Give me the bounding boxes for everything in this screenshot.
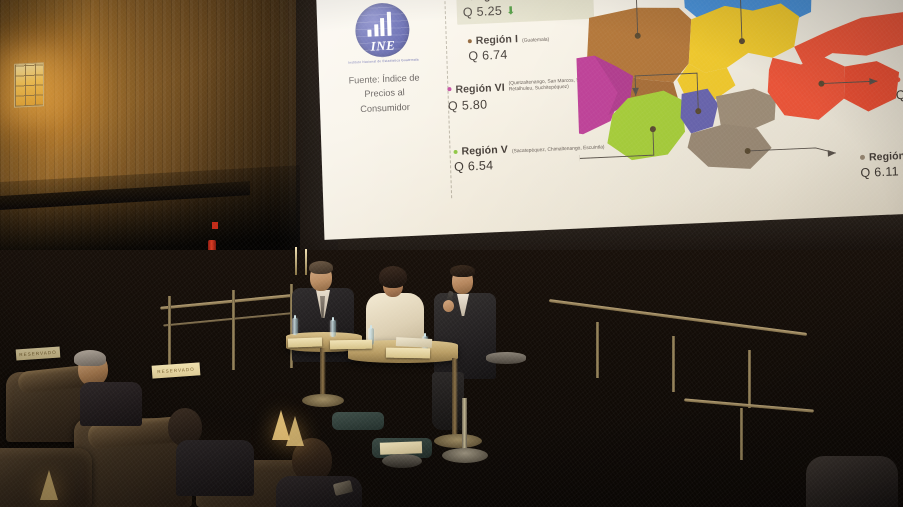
water-bottle-2 [330,320,336,337]
arrow-down-icon: ⬇ [506,6,516,18]
audience-hair-1 [74,350,106,366]
region-name-i: Región I [476,33,519,47]
auditorium-scene: INE Instituto Nacional de Estadística Gu… [0,0,903,507]
region-dot-i [468,39,472,43]
projection-screen: INE Instituto Nacional de Estadística Gu… [316,0,903,240]
slide-surface: INE Instituto Nacional de Estadística Gu… [316,0,903,240]
map-region-orange-3 [843,60,901,112]
region-name-vi: Región VI [455,82,505,96]
region-name-v: Región V [461,144,508,158]
wall-sconce-light [14,62,44,108]
region-dot-vi [447,87,451,91]
panel-table-right-stem [452,358,458,440]
panel-table-left-stem [320,348,326,400]
aisle-table-1 [332,412,384,430]
region-value-i: Q 6.74 [468,46,550,64]
panelist-right-legs [432,372,464,430]
candlestick-right [305,249,307,275]
region-dot-v [454,150,458,154]
name-placard-2 [330,340,372,350]
desk-lamp-2 [286,416,304,446]
bar-chart-icon [367,12,391,37]
map-region-orange-2 [767,55,847,122]
stool-right [486,352,526,364]
name-placard-3 [386,348,430,359]
ine-logo-icon: INE [355,2,411,58]
panelist-left-hair [309,261,333,274]
stanchion-base [442,448,488,463]
candlestick-left [295,247,297,275]
panelist-right-hair [450,265,475,277]
fire-extinguisher-sign-icon [212,222,218,229]
foreground-object-right [806,456,898,507]
map-region-orange [793,11,903,69]
panel-table-left-base [302,394,344,407]
name-placard-1 [288,337,322,347]
aisle-table-2-base [382,454,422,468]
guatemala-region-map [574,0,903,197]
slide-source-block: INE Instituto Nacional de Estadística Gu… [323,0,445,117]
panelist-right-hand [443,300,454,312]
panelist-center-hair [379,266,407,288]
region-value-vii: Q 5.25⬇ [463,1,584,20]
slide-source-text: Fuente: Índice de Precios al Consumidor [325,69,444,117]
panel-table-right-base [434,434,482,448]
region-departments-i: (Guatemala) [522,38,549,46]
region-label-i: Región I (Guatemala) Q 6.74 [468,32,550,64]
desk-lamp-3 [40,470,58,500]
ine-logo-wordmark: INE [356,38,410,53]
region-label-vii: Región VII (Huehuetenango, Quiché) Q 5.2… [456,0,594,25]
papers-on-table [396,337,432,348]
ine-logo-subtitle: Instituto Nacional de Estadística Guatem… [324,56,442,65]
aisle-table-2-paper [380,441,422,454]
stanchion-post [462,398,467,454]
audience-body-1 [80,382,142,426]
water-bottle-1 [292,318,298,335]
audience-body-2 [176,440,254,496]
